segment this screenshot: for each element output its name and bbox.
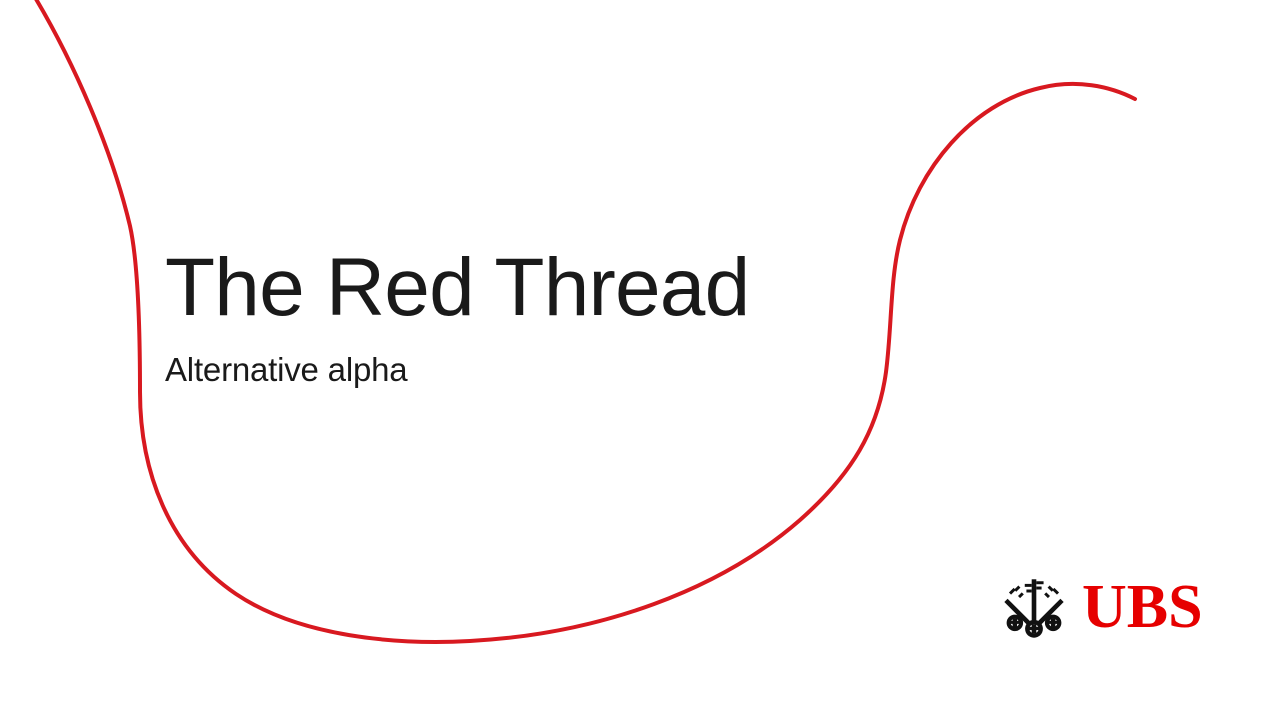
page-subtitle: Alternative alpha (165, 330, 865, 388)
ubs-logo: UBS (1000, 572, 1212, 642)
ubs-wordmark: UBS (1082, 576, 1203, 638)
three-keys-icon (1000, 574, 1068, 640)
slide-canvas: The Red Thread Alternative alpha (0, 0, 1280, 720)
title-block: The Red Thread Alternative alpha (165, 245, 865, 389)
page-title: The Red Thread (165, 245, 865, 330)
